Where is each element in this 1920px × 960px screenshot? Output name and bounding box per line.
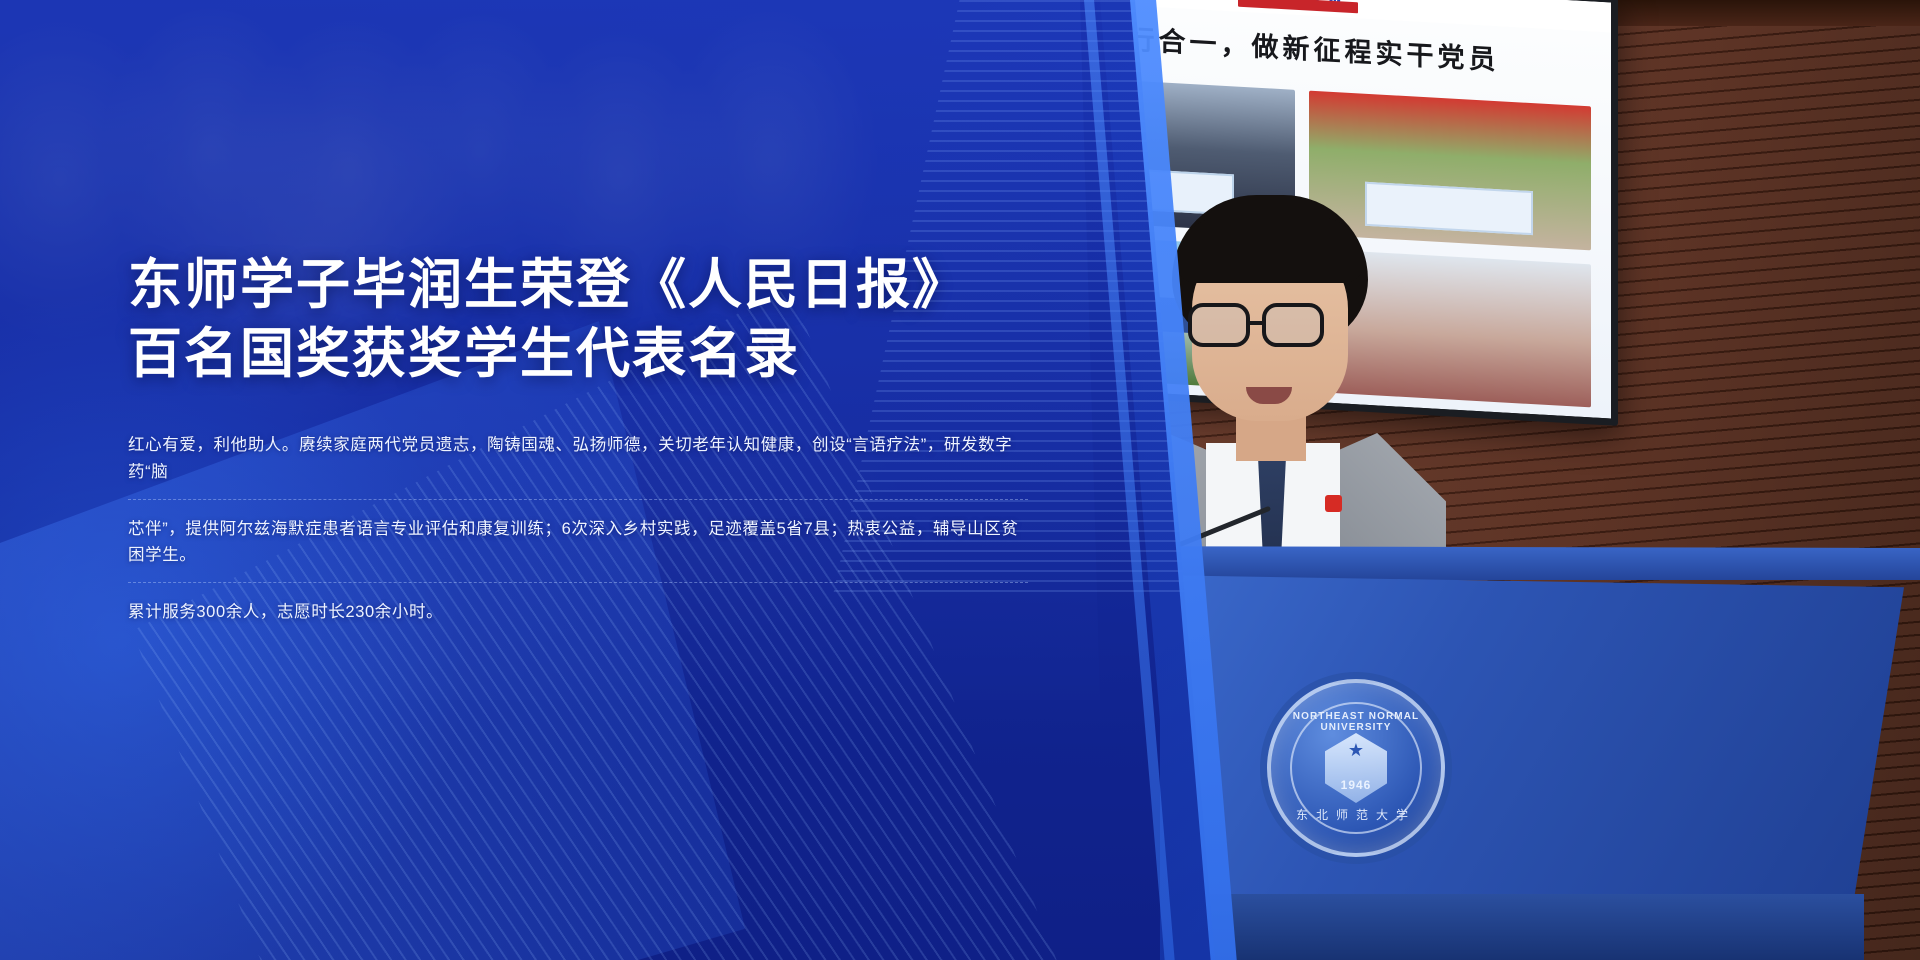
eyeglass-left — [1188, 303, 1250, 347]
description-line: 累计服务300余人，志愿时长230余小时。 — [128, 599, 1028, 639]
headline-line-2: 百名国奖获奖学生代表名录 — [128, 319, 1028, 388]
party-badge-icon — [1325, 495, 1342, 512]
description-line: 红心有爱，利他助人。赓续家庭两代党员遗志，陶铸国魂、弘扬师德，关切老年认知健康，… — [128, 432, 1028, 499]
headline-line-1: 东师学子毕润生荣登《人民日报》 — [128, 252, 968, 316]
emblem-chinese-text: 东北师范大学 — [1292, 806, 1420, 823]
description-block: 红心有爱，利他助人。赓续家庭两代党员遗志，陶铸国魂、弘扬师德，关切老年认知健康，… — [128, 432, 1028, 639]
star-icon: ★ — [1348, 741, 1364, 759]
text-content: 东师学子毕润生荣登《人民日报》 百名国奖获奖学生代表名录 红心有爱，利他助人。赓… — [128, 250, 1028, 655]
emblem-shield-icon: ★ — [1325, 733, 1387, 803]
emblem-english-text: NORTHEAST NORMAL UNIVERSITY — [1292, 711, 1420, 733]
description-line: 芯伴”，提供阿尔兹海默症患者语言专业评估和康复训练；6次深入乡村实践，足迹覆盖5… — [128, 516, 1028, 583]
university-emblem: NORTHEAST NORMAL UNIVERSITY ★ 1946 东北师范大… — [1267, 679, 1445, 857]
eyeglass-bridge — [1250, 321, 1264, 325]
hair-fringe — [1176, 217, 1364, 283]
news-banner: 01040 知行合一，做新征程实干党员 — [0, 0, 1920, 960]
page-title: 东师学子毕润生荣登《人民日报》 百名国奖获奖学生代表名录 — [128, 250, 1028, 388]
eyeglass-right — [1262, 303, 1324, 347]
emblem-inner-ring: NORTHEAST NORMAL UNIVERSITY ★ 1946 东北师范大… — [1290, 702, 1422, 834]
emblem-founded-year: 1946 — [1292, 778, 1420, 792]
